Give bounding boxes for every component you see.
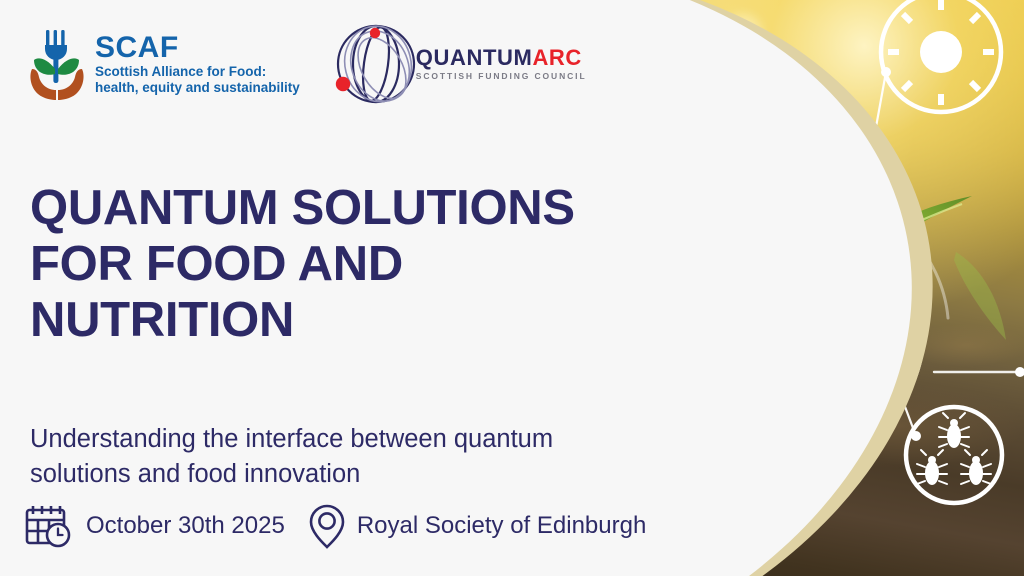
subtitle-line-2: solutions and food innovation [30,460,360,488]
subtitle-line-1: Understanding the interface between quan… [30,425,553,453]
quantumarc-quantum: QUANTUM [416,45,533,70]
map-pin-icon [309,503,345,549]
quantumarc-subtitle: SCOTTISH FUNDING COUNCIL [416,72,587,81]
logo-row: SCAF Scottish Alliance for Food: health,… [28,16,587,112]
bug-icon [906,407,1002,503]
title-line-3: NUTRITION [30,293,294,347]
event-location-text: Royal Society of Edinburgh [357,512,647,540]
quantumarc-name: QUANTUMARC [416,47,587,69]
scaf-acronym: SCAF [95,33,300,63]
scaf-logo: SCAF Scottish Alliance for Food: health,… [28,27,300,101]
poster-canvas: SCAF Scottish Alliance for Food: health,… [0,0,1024,576]
quantumarc-logo: QUANTUMARC SCOTTISH FUNDING COUNCIL [328,16,587,112]
fork-plant-hands-icon [28,27,86,101]
event-location: Royal Society of Edinburgh [309,503,647,549]
quantumarc-wordmark: QUANTUMARC SCOTTISH FUNDING COUNCIL [414,47,587,81]
title-line-1: QUANTUM SOLUTIONS [30,181,575,235]
event-date-text: October 30th 2025 [86,512,285,540]
event-meta-row: October 30th 2025 Royal Society of Edinb… [24,503,646,549]
title-line-2: FOR FOOD AND [30,237,403,291]
scaf-tagline-line1: Scottish Alliance for Food: [95,64,300,80]
page-title: QUANTUM SOLUTIONS FOR FOOD AND NUTRITION [30,181,630,349]
page-subtitle: Understanding the interface between quan… [30,422,670,492]
scaf-tagline-line2: health, equity and sustainability [95,80,300,96]
sun-icon [881,0,1001,112]
scaf-wordmark: SCAF Scottish Alliance for Food: health,… [95,33,300,95]
quantumarc-arc: ARC [532,45,581,70]
calendar-clock-icon [24,503,74,549]
event-date: October 30th 2025 [24,503,285,549]
quantum-orbit-sphere-icon [328,16,424,112]
